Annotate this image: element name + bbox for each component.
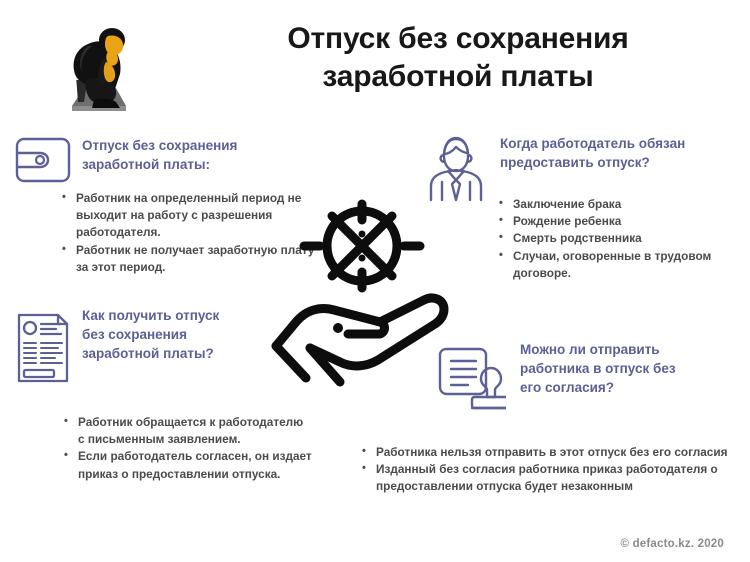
section-obligation-heading: Когда работодатель обязан предоставить о… [500,134,750,172]
list-item: Рождение ребенка [497,213,732,230]
section-consent-list: Работника нельзя отправить в этот отпуск… [360,444,740,496]
list-item: Случаи, оговоренные в трудовом договоре. [497,248,732,282]
page-title-line-2: заработной платы [178,58,738,96]
section-obligation-list: Заключение брака Рождение ребенка Смерть… [497,196,732,282]
list-item: Если работодатель согласен, он издает пр… [62,448,312,482]
list-item: Смерть родственника [497,230,732,247]
list-item: Изданный без согласия работника приказ р… [360,461,740,495]
section-howto-heading: Как получить отпуск без сохранения зараб… [82,306,272,363]
list-item: Работник обращается к работодателю с пис… [62,414,312,448]
heading-line-2: заработной платы: [82,155,297,174]
list-item: Заключение брака [497,196,732,213]
heading-line-1: Когда работодатель обязан [500,134,750,153]
heading-line-1: Как получить отпуск [82,306,272,325]
heading-line-2: работника в отпуск без [520,359,735,378]
heading-line-2: без сохранения [82,325,272,344]
heading-line-1: Отпуск без сохранения [82,136,297,155]
heading-line-1: Можно ли отправить [520,340,735,359]
wallet-icon [14,136,72,189]
list-item: Работника нельзя отправить в этот отпуск… [360,444,740,461]
document-with-stamp-icon [434,345,506,422]
infographic-poster: Отпуск без сохранения заработной платы О… [0,0,750,562]
section-definition-heading: Отпуск без сохранения заработной платы: [82,136,297,174]
thinker-statue-illustration [48,14,152,118]
heading-line-2: предоставить отпуск? [500,153,750,172]
heading-line-3: его согласия? [520,378,735,397]
page-title-line-1: Отпуск без сохранения [178,20,738,58]
page-title: Отпуск без сохранения заработной платы [178,20,738,97]
document-icon [14,312,72,389]
copyright-footer: © defacto.kz. 2020 [621,538,724,550]
heading-line-3: заработной платы? [82,344,272,363]
section-consent-heading: Можно ли отправить работника в отпуск бе… [520,340,735,397]
poster-header: Отпуск без сохранения заработной платы [0,0,750,125]
section-howto-list: Работник обращается к работодателю с пис… [62,414,312,483]
